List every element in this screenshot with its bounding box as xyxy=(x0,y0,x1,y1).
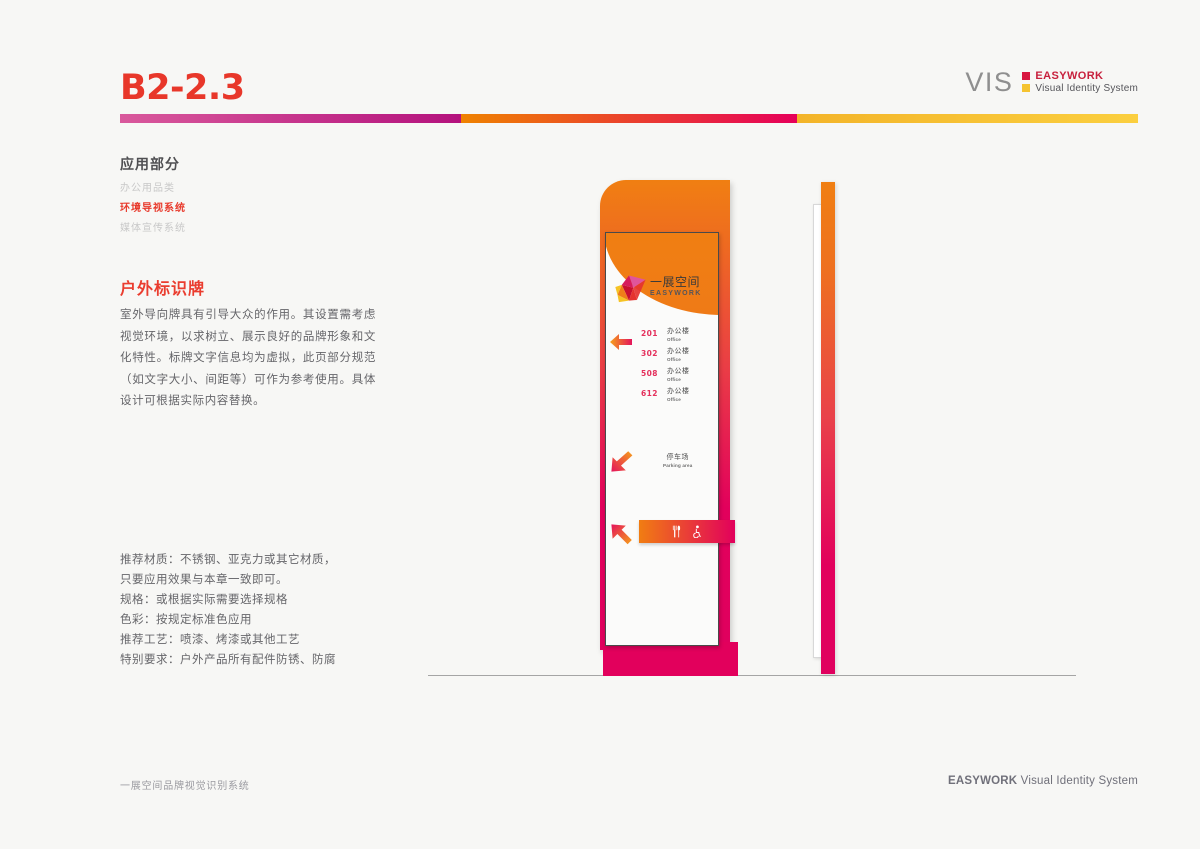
spec-line: 色彩：按规定标准色应用 xyxy=(120,610,390,630)
logo-text: 一展空间 EASYWORK xyxy=(650,276,702,299)
vis-manual-page: B2-2.3 VIS EASYWORK Visual Identity Syst… xyxy=(0,0,1200,849)
directory-labels: 办公楼 Office xyxy=(667,368,690,383)
vis-label: VIS xyxy=(965,69,1013,96)
directory-row: 508 办公楼 Office xyxy=(641,368,717,388)
footer-brand-tagline: Visual Identity System xyxy=(1017,775,1138,787)
header-color-bar xyxy=(120,114,1138,123)
brand-tagline: Visual Identity System xyxy=(1035,83,1138,95)
footer-brand: EASYWORK xyxy=(948,775,1017,787)
sign-base xyxy=(603,642,738,676)
footer-right-text: EASYWORK Visual Identity System xyxy=(948,775,1138,787)
outdoor-sign-front-view: 一展空间 EASYWORK xyxy=(600,180,740,667)
arrow-down-left-icon xyxy=(609,450,633,474)
directory-label-cn: 办公楼 xyxy=(667,368,690,376)
directory-number: 302 xyxy=(641,348,667,358)
ground-line xyxy=(428,675,1076,676)
parking-labels: 停车场 Parking area xyxy=(663,454,692,469)
vis-brand-line-2: Visual Identity System xyxy=(1022,83,1138,95)
sidebar-item-office-supplies[interactable]: 办公用品类 xyxy=(120,179,340,199)
parking-label-en: Parking area xyxy=(663,462,692,469)
arrow-left-icon xyxy=(609,332,633,352)
directory-row: 201 办公楼 Office xyxy=(641,328,717,348)
spec-line: 只要应用效果与本章一致即可。 xyxy=(120,570,390,590)
spec-line: 推荐材质：不锈钢、亚克力或其它材质， xyxy=(120,550,390,570)
brand-name: EASYWORK xyxy=(1035,70,1103,83)
parking-label-cn: 停车场 xyxy=(663,454,692,462)
amenities-bar xyxy=(639,520,735,543)
accessible-icon xyxy=(691,525,702,538)
vis-brand-block: VIS EASYWORK Visual Identity System xyxy=(965,68,1138,96)
amenities-block xyxy=(605,520,735,546)
directory-label-cn: 办公楼 xyxy=(667,328,690,336)
directory-label-en: Office xyxy=(667,356,690,363)
restaurant-icon xyxy=(672,525,681,538)
signage-artwork: 一展空间 EASYWORK xyxy=(410,170,1070,690)
arrow-up-left-icon xyxy=(609,522,633,546)
sign-content: 一展空间 EASYWORK xyxy=(605,232,717,644)
bar-segment-yellow xyxy=(797,114,1138,123)
side-view-profile xyxy=(821,182,835,674)
sidebar-nav: 办公用品类 环境导视系统 媒体宣传系统 xyxy=(120,179,340,239)
directory-labels: 办公楼 Office xyxy=(667,388,690,403)
directory-row: 302 办公楼 Office xyxy=(641,348,717,368)
directory-number: 508 xyxy=(641,368,667,378)
red-square-icon xyxy=(1022,72,1030,80)
directory-label-en: Office xyxy=(667,336,690,343)
directory-labels: 办公楼 Office xyxy=(667,348,690,363)
vis-brand-line-1: EASYWORK xyxy=(1022,70,1138,83)
outdoor-sign-side-view xyxy=(810,182,840,674)
topic-title: 户外标识牌 xyxy=(120,275,205,299)
sidebar-item-environmental-signage[interactable]: 环境导视系统 xyxy=(120,199,340,219)
directory-label-cn: 办公楼 xyxy=(667,348,690,356)
sidebar-item-media-promotion[interactable]: 媒体宣传系统 xyxy=(120,219,340,239)
section-heading: 应用部分 xyxy=(120,154,180,174)
bar-segment-orange-red xyxy=(461,114,797,123)
topic-description: 室外导向牌具有引导大众的作用。其设置需考虑视觉环境，以求树立、展示良好的品牌形象… xyxy=(120,305,376,413)
spec-line: 规格：或根据实际需要选择规格 xyxy=(120,590,390,610)
directory-label-en: Office xyxy=(667,396,690,403)
directory-label-en: Office xyxy=(667,376,690,383)
easywork-logo-mark xyxy=(611,269,647,305)
footer-left-text: 一展空间品牌视觉识别系统 xyxy=(120,777,250,792)
spec-line: 推荐工艺：喷漆、烤漆或其他工艺 xyxy=(120,630,390,650)
directory-number: 201 xyxy=(641,328,667,338)
directory-rows: 201 办公楼 Office 302 办公楼 Office xyxy=(641,328,717,408)
directory-label-cn: 办公楼 xyxy=(667,388,690,396)
logo-name-en: EASYWORK xyxy=(650,289,702,299)
directory-row: 612 办公楼 Office xyxy=(641,388,717,408)
sign-logo: 一展空间 EASYWORK xyxy=(611,266,711,308)
spec-line: 特别要求：户外产品所有配件防锈、防腐 xyxy=(120,650,390,670)
directory-labels: 办公楼 Office xyxy=(667,328,690,343)
yellow-square-icon xyxy=(1022,84,1030,92)
spec-list: 推荐材质：不锈钢、亚克力或其它材质， 只要应用效果与本章一致即可。 规格：或根据… xyxy=(120,550,390,670)
bar-segment-magenta xyxy=(120,114,461,123)
page-code: B2-2.3 xyxy=(120,68,245,108)
directory-number: 612 xyxy=(641,388,667,398)
logo-name-cn: 一展空间 xyxy=(650,276,702,289)
vis-brand-lines: EASYWORK Visual Identity System xyxy=(1022,68,1138,94)
